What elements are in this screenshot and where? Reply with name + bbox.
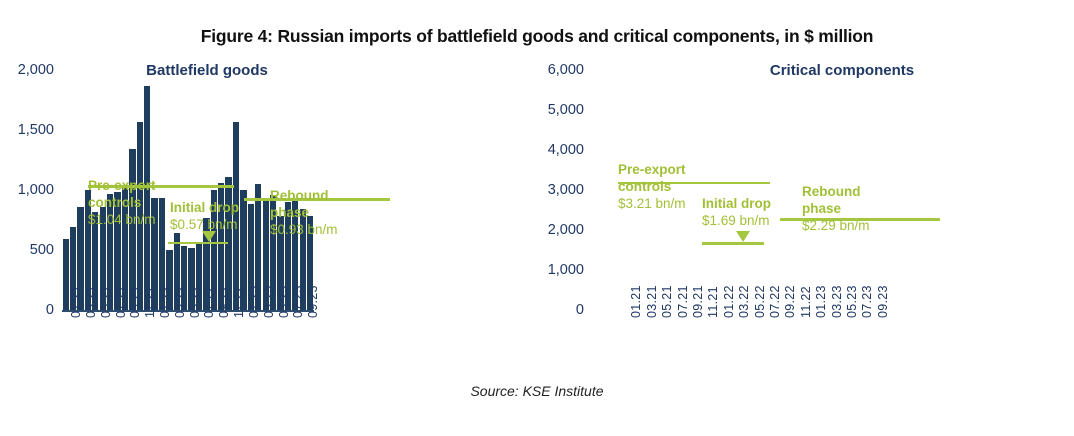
x-axis-battlefield-goods: 01.2103.2105.2107.2109.2111.2101.2203.22…	[0, 314, 530, 366]
x-axis-tick: 03.22	[173, 285, 187, 318]
x-axis-tick: 01.22	[722, 285, 736, 318]
phase-annotation-label: controls	[88, 195, 156, 212]
y-axis-tick: 1,500	[0, 122, 54, 138]
phase-annotation-label: phase	[802, 201, 870, 218]
figure-title: Figure 4: Russian imports of battlefield…	[0, 26, 1074, 47]
phase-annotation-label: Initial drop	[170, 200, 239, 217]
x-axis-tick: 01.23	[247, 285, 261, 318]
y-axis-tick: 2,000	[0, 62, 54, 78]
x-axis-tick: 11.22	[799, 286, 813, 318]
x-axis-tick: 01.21	[69, 285, 83, 318]
x-axis-tick: 03.22	[737, 285, 751, 318]
x-axis-tick: 05.21	[660, 285, 674, 318]
x-axis-tick: 05.21	[99, 285, 113, 318]
y-axis-tick: 4,000	[530, 142, 584, 158]
average-line	[168, 242, 228, 245]
x-axis-tick: 07.23	[291, 285, 305, 318]
x-axis-tick: 09.21	[128, 285, 142, 318]
x-axis-tick: 03.23	[262, 285, 276, 318]
phase-annotation-label: phase	[270, 205, 338, 222]
x-axis-tick: 11.21	[706, 286, 720, 318]
x-axis-tick: 03.21	[84, 285, 98, 318]
x-axis-tick: 03.21	[645, 285, 659, 318]
phase-annotation: Reboundphase$0.93 bn/m	[270, 188, 338, 239]
x-axis-tick: 01.23	[814, 285, 828, 318]
phase-annotation: Pre-exportcontrols$3.21 bn/m	[618, 162, 686, 213]
x-axis-tick: 09.23	[876, 285, 890, 318]
x-axis-critical-components: 01.2103.2105.2107.2109.2111.2101.2203.22…	[530, 314, 1074, 366]
x-axis-tick: 07.22	[768, 285, 782, 318]
x-axis-tick: 05.23	[845, 285, 859, 318]
phase-annotation-amount: $2.29 bn/m	[802, 218, 870, 235]
phase-annotation-amount: $0.93 bn/m	[270, 222, 338, 239]
chart-title-critical-components: Critical components	[570, 62, 1074, 79]
y-axis-tick: 2,000	[530, 222, 584, 238]
x-axis-tick: 05.22	[753, 285, 767, 318]
phase-annotation: Pre-exportcontrols$1.04 bn/m	[88, 178, 156, 229]
phase-annotation-label: Rebound	[270, 188, 338, 205]
y-axis-tick: 1,000	[0, 182, 54, 198]
x-axis-tick: 07.22	[202, 285, 216, 318]
x-axis-tick: 03.23	[830, 285, 844, 318]
y-axis-tick: 6,000	[530, 62, 584, 78]
phase-annotation-label: Pre-export	[88, 178, 156, 195]
phase-annotation-label: controls	[618, 179, 686, 196]
down-arrow-head-icon	[202, 231, 216, 242]
x-axis-tick: 01.21	[629, 285, 643, 318]
phase-annotation-label: Rebound	[802, 184, 870, 201]
average-line	[702, 242, 764, 245]
x-axis-tick: 11.21	[143, 286, 157, 318]
phase-annotation: Reboundphase$2.29 bn/m	[802, 184, 870, 235]
phase-annotation-amount: $1.69 bn/m	[702, 213, 771, 230]
chart-panel-critical-components: Critical components 01,0002,0003,0004,00…	[530, 58, 1074, 368]
phase-annotation-amount: $1.04 bn/m	[88, 212, 156, 229]
phase-annotation: Initial drop$1.69 bn/m	[702, 196, 771, 230]
phase-annotation-amount: $3.21 bn/m	[618, 196, 686, 213]
x-axis-tick: 07.21	[114, 285, 128, 318]
source-note: Source: KSE Institute	[0, 383, 1074, 399]
x-axis-tick: 07.23	[860, 285, 874, 318]
chart-panel-battlefield-goods: Battlefield goods 05001,0001,5002,000 01…	[0, 58, 530, 368]
phase-annotation-label: Pre-export	[618, 162, 686, 179]
y-axis-battlefield-goods: 05001,0001,5002,000	[0, 58, 54, 310]
y-axis-tick: 500	[0, 242, 54, 258]
down-arrow-head-icon	[736, 231, 750, 242]
phase-annotation-label: Initial drop	[702, 196, 771, 213]
x-axis-tick: 05.22	[188, 285, 202, 318]
y-axis-critical-components: 01,0002,0003,0004,0005,0006,000	[530, 58, 584, 310]
x-axis-tick: 05.23	[277, 285, 291, 318]
bar	[63, 239, 69, 310]
x-axis-tick: 09.21	[691, 285, 705, 318]
x-axis-tick: 07.21	[676, 285, 690, 318]
y-axis-tick: 5,000	[530, 102, 584, 118]
x-axis-tick: 11.22	[232, 286, 246, 318]
x-axis-tick: 09.22	[217, 285, 231, 318]
x-axis-tick: 01.22	[158, 285, 172, 318]
x-axis-tick: 09.23	[306, 285, 320, 318]
phase-annotation: Initial drop$0.57 bn/m	[170, 200, 239, 234]
x-axis-tick: 09.22	[783, 285, 797, 318]
y-axis-tick: 1,000	[530, 262, 584, 278]
y-axis-tick: 3,000	[530, 182, 584, 198]
